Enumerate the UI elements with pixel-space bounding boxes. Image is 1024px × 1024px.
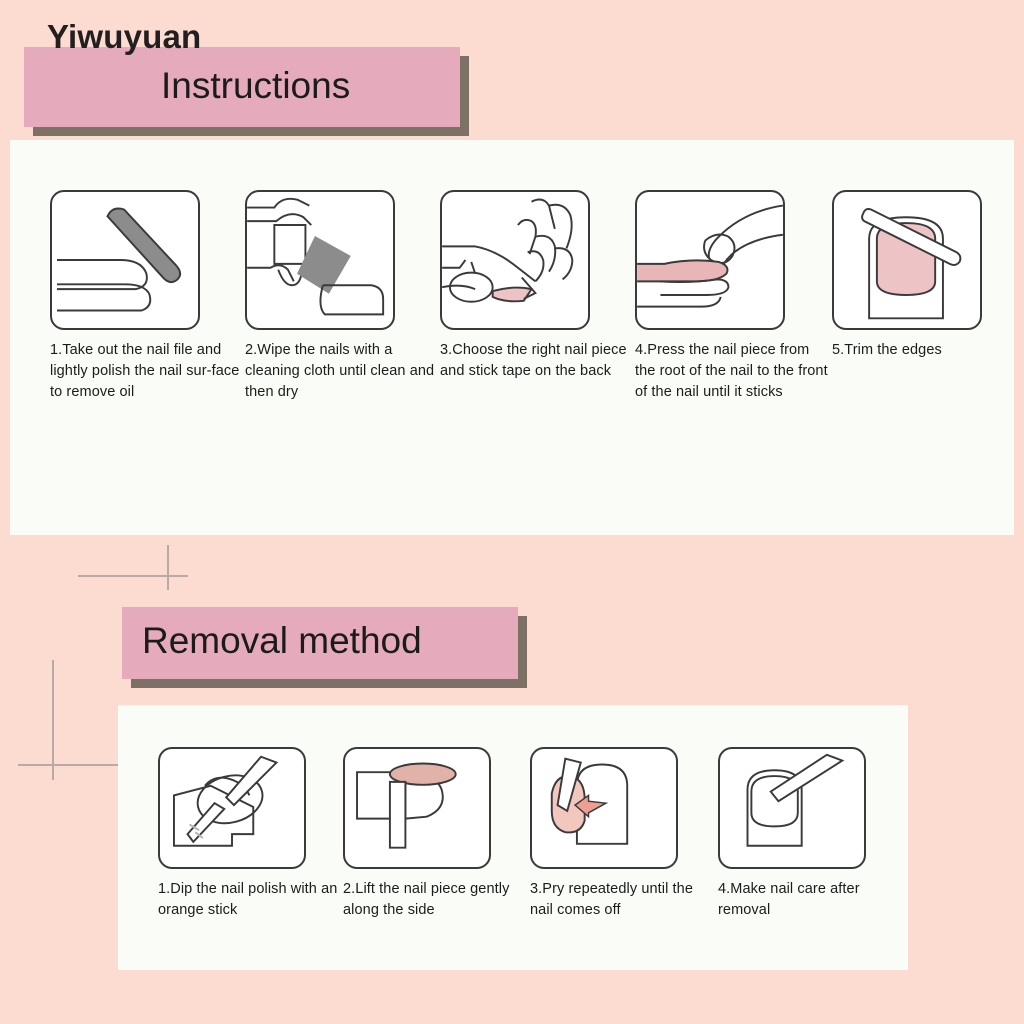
removal-title-band: Removal method [122,607,518,679]
poster-canvas: Yiwuyuan Instructions 1.Take out the nai… [0,0,1024,1024]
instructions-title: Instructions [24,47,460,107]
lifting-nail-piece-icon [343,747,491,869]
prying-nail-piece-icon [530,747,678,869]
removal-step-3: 3.Pry repeatedly until the nail comes of… [530,747,715,921]
instruction-step-5-caption: 5.Trim the edges [832,340,992,361]
file-trimming-nail-edge-icon [832,190,982,330]
brand-title: Yiwuyuan [47,18,201,56]
cleaning-cloth-on-nail-icon [245,190,395,330]
removal-step-2-caption: 2.Lift the nail piece gently along the s… [343,879,528,921]
crosshair-horizontal-line [78,575,188,577]
removal-step-3-caption: 3.Pry repeatedly until the nail comes of… [530,879,715,921]
instruction-step-3: 3.Choose the right nail piece and stick … [440,190,635,382]
removal-step-4: 4.Make nail care after removal [718,747,903,921]
nail-file-on-finger-icon [50,190,200,330]
orange-stick-dipping-polish-icon [158,747,306,869]
instruction-step-3-caption: 3.Choose the right nail piece and stick … [440,340,635,382]
instruction-step-1-caption: 1.Take out the nail file and lightly pol… [50,340,245,403]
crosshair-horizontal-line [18,764,123,766]
removal-step-1-caption: 1.Dip the nail polish with an orange sti… [158,879,343,921]
instructions-title-band: Instructions [24,47,460,127]
crosshair-decoration-top [78,545,188,590]
instruction-step-2-caption: 2.Wipe the nails with a cleaning cloth u… [245,340,435,403]
instruction-step-4-caption: 4.Press the nail piece from the root of … [635,340,830,403]
removal-title: Removal method [122,607,518,662]
finger-pressing-nail-piece-icon [635,190,785,330]
removal-step-1: 1.Dip the nail polish with an orange sti… [158,747,343,921]
crosshair-vertical-line [52,660,54,780]
instructions-panel: 1.Take out the nail file and lightly pol… [10,140,1014,535]
fingers-picking-nail-piece-icon [440,190,590,330]
removal-step-4-caption: 4.Make nail care after removal [718,879,903,921]
instruction-step-1: 1.Take out the nail file and lightly pol… [50,190,245,403]
removal-panel: 1.Dip the nail polish with an orange sti… [118,705,908,970]
instruction-step-2: 2.Wipe the nails with a cleaning cloth u… [245,190,435,403]
nail-care-after-removal-icon [718,747,866,869]
removal-step-2: 2.Lift the nail piece gently along the s… [343,747,528,921]
instruction-step-5: 5.Trim the edges [832,190,992,361]
crosshair-decoration-bottom [18,660,123,780]
crosshair-vertical-line [167,545,169,590]
instruction-step-4: 4.Press the nail piece from the root of … [635,190,830,403]
